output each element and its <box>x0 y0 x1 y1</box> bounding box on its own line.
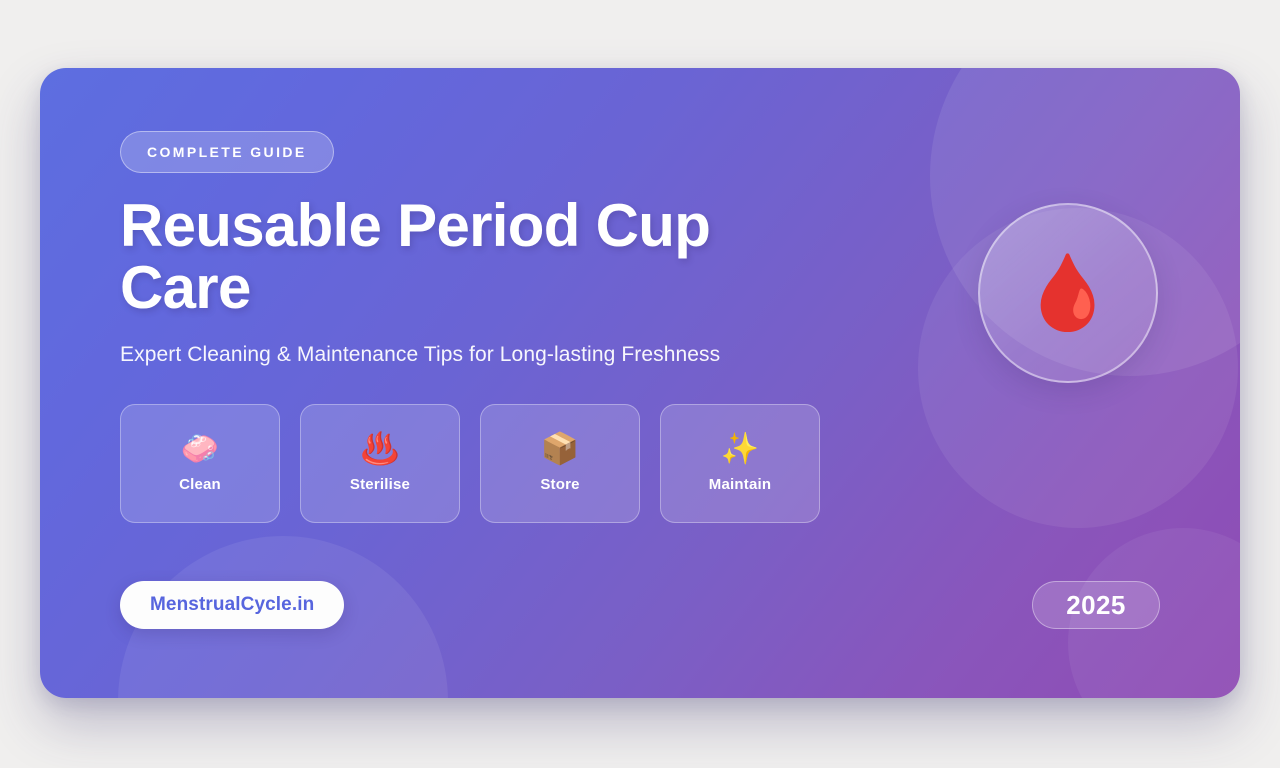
package-box-icon: 📦 <box>541 434 580 465</box>
feature-card-clean[interactable]: 🧼 Clean <box>120 404 280 523</box>
feature-label-sterilise: Sterilise <box>350 476 410 493</box>
feature-card-row: 🧼 Clean ♨️ Sterilise 📦 Store ✨ Maintain <box>120 404 900 523</box>
brand-pill[interactable]: MenstrualCycle.in <box>120 581 344 629</box>
page-subtitle: Expert Cleaning & Maintenance Tips for L… <box>120 343 900 367</box>
hero-content: COMPLETE GUIDE Reusable Period Cup Care … <box>120 131 900 523</box>
feature-label-clean: Clean <box>179 476 221 493</box>
emblem-circle: 🩸 <box>978 203 1158 383</box>
year-label: 2025 <box>1066 590 1125 621</box>
brand-name: MenstrualCycle.in <box>150 594 314 616</box>
hot-springs-icon: ♨️ <box>361 434 400 465</box>
page-title: Reusable Period Cup Care <box>120 195 760 319</box>
feature-card-store[interactable]: 📦 Store <box>480 404 640 523</box>
eyebrow-badge: COMPLETE GUIDE <box>120 131 334 173</box>
page-stage: COMPLETE GUIDE Reusable Period Cup Care … <box>0 0 1280 768</box>
feature-label-store: Store <box>540 476 579 493</box>
hero-card: COMPLETE GUIDE Reusable Period Cup Care … <box>40 68 1240 698</box>
feature-card-sterilise[interactable]: ♨️ Sterilise <box>300 404 460 523</box>
blood-drop-icon: 🩸 <box>1022 256 1114 330</box>
feature-card-maintain[interactable]: ✨ Maintain <box>660 404 820 523</box>
soap-icon: 🧼 <box>181 434 220 465</box>
sparkles-icon: ✨ <box>721 434 760 465</box>
year-badge: 2025 <box>1032 581 1160 629</box>
feature-label-maintain: Maintain <box>709 476 771 493</box>
